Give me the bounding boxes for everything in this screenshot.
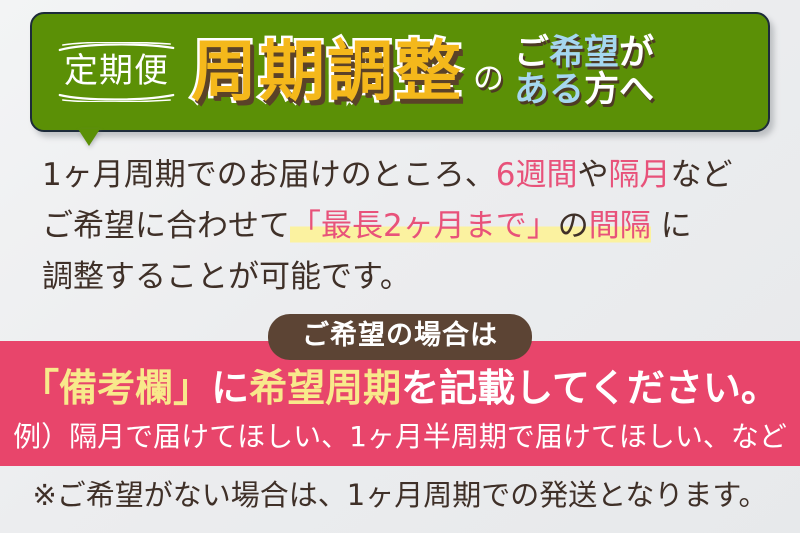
body-highlight: 「最長2ヶ月まで」 [290,208,558,244]
subtext-char: あ [514,70,549,110]
body-paragraph: 1ヶ月周期でのお届けのところ、6週間や隔月など ご希望に合わせて「最長2ヶ月まで… [42,150,772,303]
cta-headline-text: に [211,366,249,410]
body-accent: 隔月 [608,157,670,193]
body-line-3: 調整することが可能です。 [42,252,772,303]
cta-example-text: 例）隔月で届けてほしい、1ヶ月半周期で届けてほしい、など [0,423,800,451]
body-highlight: 間隔 [589,208,651,244]
swash-line-top-icon [58,42,175,53]
body-line-1: 1ヶ月周期でのお届けのところ、6週間や隔月など [42,150,772,201]
subscription-badge: 定期便 [58,40,175,104]
header-subtext-line-1: ご希望が [514,35,654,72]
header-bubble: 定期便 周期調整 の ご希望が ある方へ [30,12,770,132]
body-text: や [577,157,608,193]
body-accent: 6週間 [496,157,578,193]
subtext-char: る [549,70,584,110]
cta-headline-accent: 「備考欄」 [21,366,211,410]
subtext-char: が [619,33,654,73]
page-title: 周期調整 [191,39,463,105]
header-subtext: ご希望が ある方へ [514,35,654,109]
body-line-2: ご希望に合わせて「最長2ヶ月まで」の間隔 に [42,201,772,252]
header-subtext-line-2: ある方へ [514,72,654,109]
cta-headline-text: を記載してください。 [401,366,779,410]
promo-banner: 定期便 周期調整 の ご希望が ある方へ 1ヶ月周期でのお届けのところ、6週間や… [0,0,800,533]
swash-line-bottom-icon [58,91,175,102]
cta-headline-accent: 希望周期 [249,366,401,410]
cta-pill-label: ご希望の場合は [268,314,532,360]
title-connector: の [473,64,504,95]
body-text: ご希望に合わせて [42,208,290,244]
cta-headline: 「備考欄」に希望周期を記載してください。 [0,369,800,407]
cta-pink-band: ご希望の場合は 「備考欄」に希望周期を記載してください。 例）隔月で届けてほしい… [0,341,800,466]
subtext-char: へ [619,70,654,110]
speech-bubble-tail-icon [78,129,100,146]
body-highlight: の [558,208,589,244]
subtext-char: ご [514,33,549,73]
subscription-badge-label: 定期便 [64,54,169,88]
body-text: など [670,157,732,193]
body-text: 1ヶ月周期でのお届けのところ、 [42,157,496,193]
body-text: に [651,208,692,244]
subtext-char: 方 [584,70,619,110]
subtext-char: 希 [549,33,584,73]
footnote-text: ※ご希望がない場合は、1ヶ月周期での発送となります。 [0,481,800,510]
subtext-char: 望 [584,33,619,73]
